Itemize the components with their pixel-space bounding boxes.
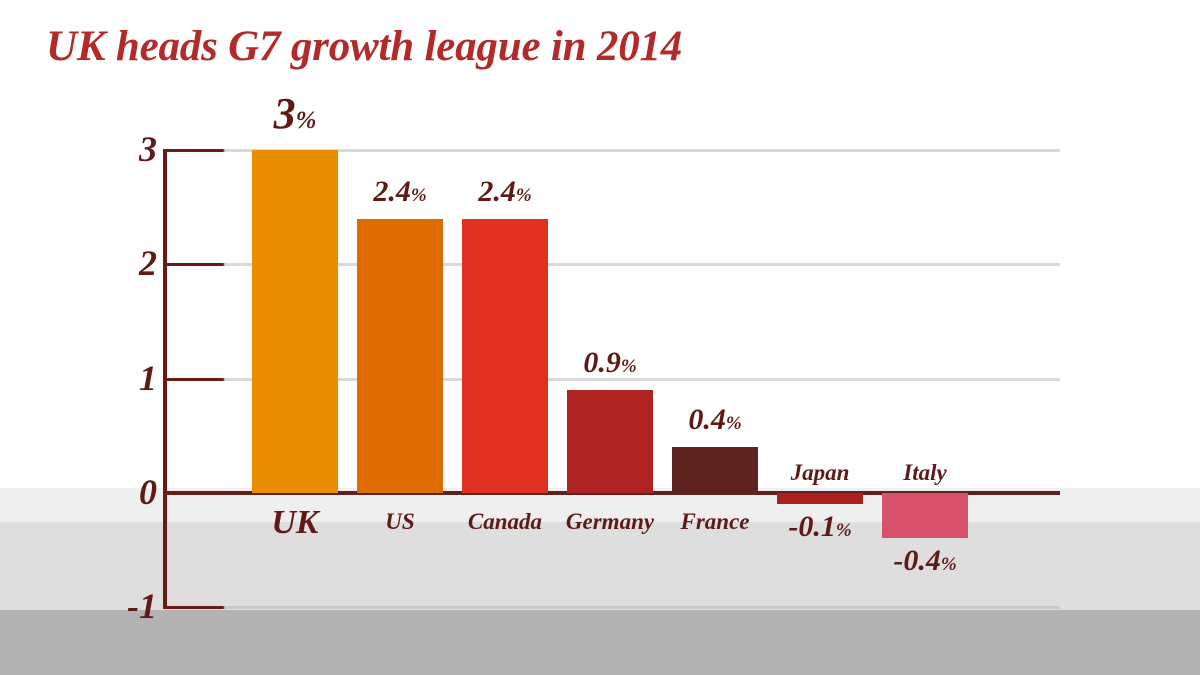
- value-number: 3: [274, 89, 296, 138]
- percent-sign: %: [726, 413, 742, 434]
- y-axis-tick-label: -1: [101, 588, 157, 624]
- value-number: -0.4: [893, 544, 941, 577]
- y-axis-tick-label: 3: [101, 131, 157, 167]
- y-axis-tick-label: 2: [101, 245, 157, 281]
- percent-sign: %: [621, 356, 637, 377]
- percent-sign: %: [411, 185, 427, 206]
- percent-sign: %: [516, 185, 532, 206]
- bar-italy[interactable]: [882, 493, 968, 539]
- bar-uk[interactable]: [252, 150, 338, 493]
- category-label-italy: Italy: [852, 461, 998, 484]
- y-axis-tick-label: 1: [101, 360, 157, 396]
- percent-sign: %: [941, 554, 957, 575]
- bar-france[interactable]: [672, 447, 758, 493]
- value-number: 0.9: [583, 346, 621, 379]
- value-label-uk: 3%: [222, 92, 368, 136]
- value-label-germany: 0.9%: [537, 348, 683, 378]
- value-label-japan: -0.1%: [747, 512, 893, 542]
- value-number: 0.4: [688, 403, 726, 436]
- y-axis-tick-label: 0: [101, 474, 157, 510]
- value-label-canada: 2.4%: [432, 177, 578, 207]
- chart-canvas: UK heads G7 growth league in 2014 3210-1…: [0, 0, 1200, 675]
- value-label-france: 0.4%: [642, 405, 788, 435]
- bar-us[interactable]: [357, 219, 443, 493]
- gridline--1: [163, 606, 1060, 609]
- percent-sign: %: [836, 520, 852, 541]
- bar-canada[interactable]: [462, 219, 548, 493]
- value-number: -0.1: [788, 510, 836, 543]
- plot-area: 3210-13%UK2.4%US2.4%Canada0.9%Germany0.4…: [0, 0, 1200, 675]
- value-number: 2.4: [373, 175, 411, 208]
- bar-germany[interactable]: [567, 390, 653, 493]
- value-number: 2.4: [478, 175, 516, 208]
- value-label-italy: -0.4%: [852, 546, 998, 576]
- percent-sign: %: [296, 107, 317, 134]
- y-axis-line: [163, 150, 167, 609]
- bar-japan[interactable]: [777, 493, 863, 504]
